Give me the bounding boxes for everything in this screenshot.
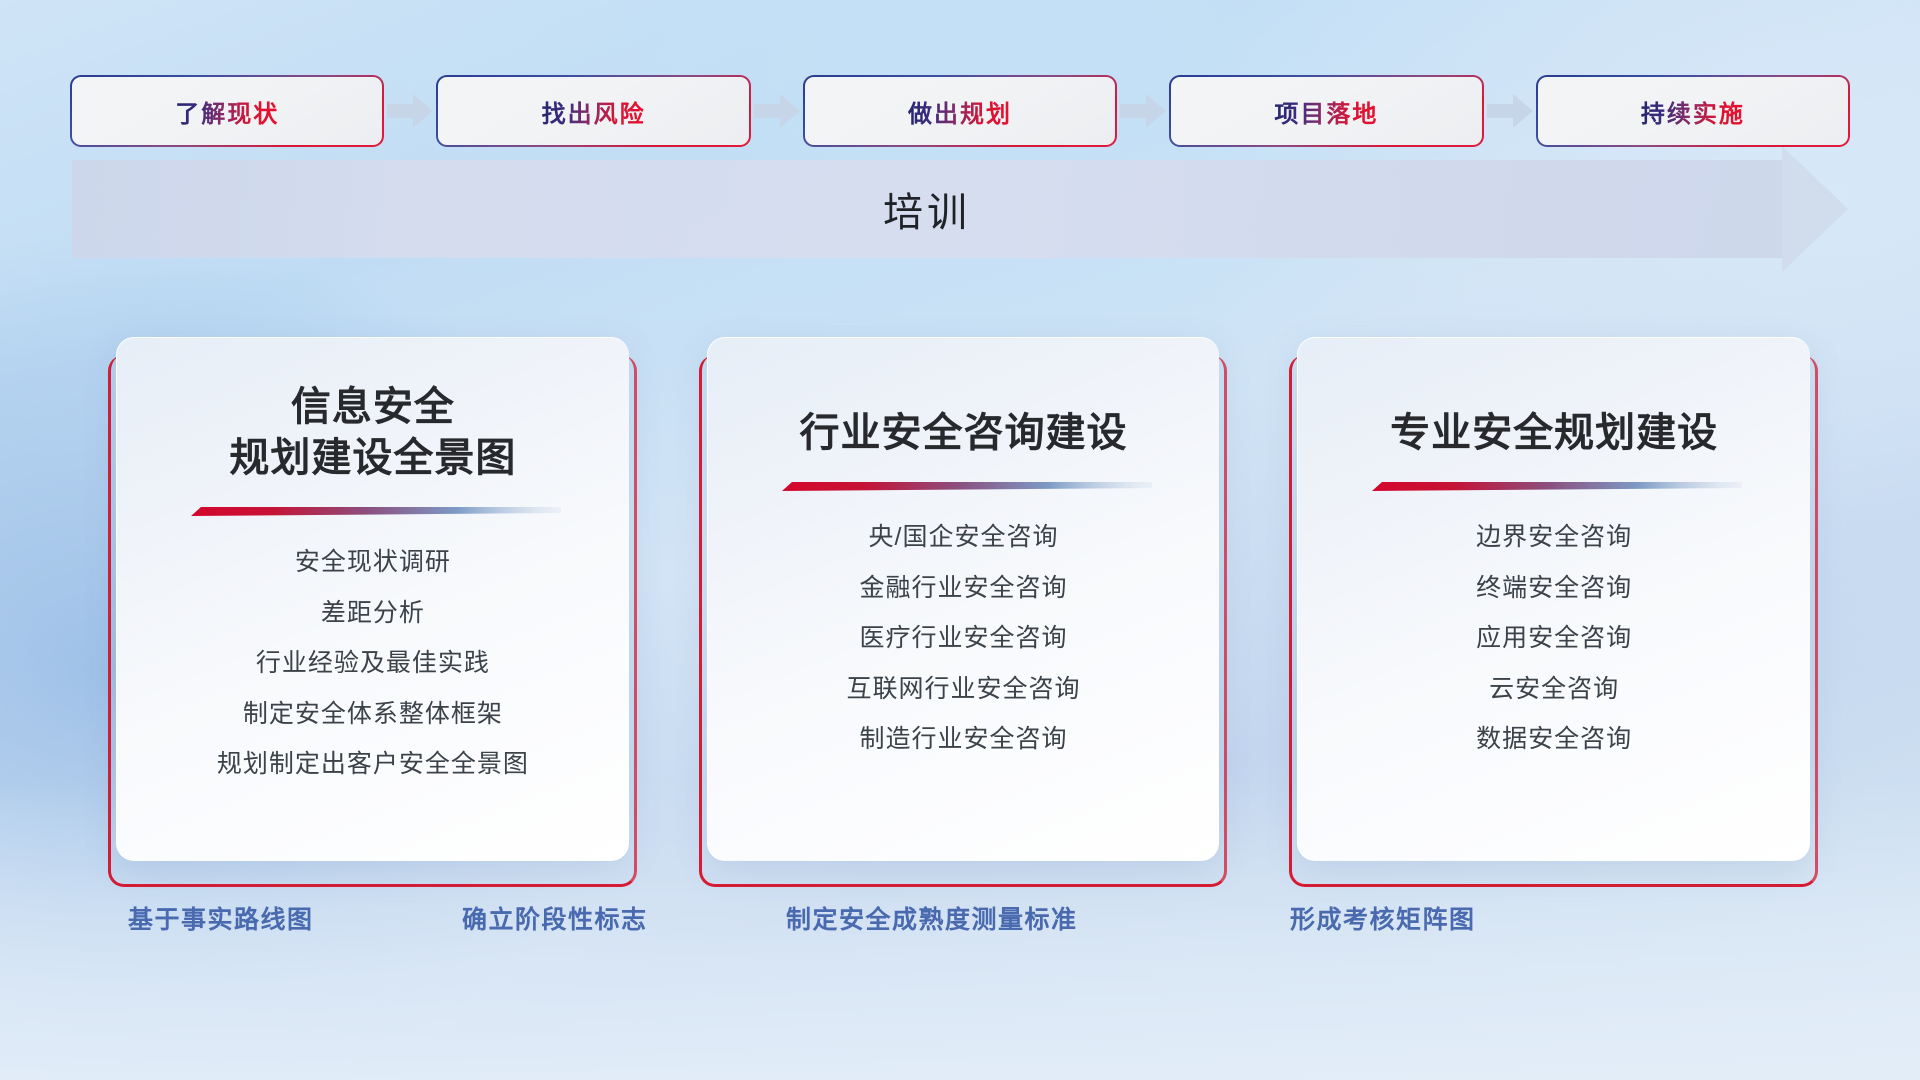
card-2-body[interactable]: 行业安全咨询建设 [707, 337, 1220, 861]
arrow-right-icon [749, 91, 805, 131]
list-item: 制造行业安全咨询 [860, 721, 1068, 759]
step-label-5: 持续实施 [1641, 94, 1745, 129]
step-box-2[interactable]: 找出风险 [438, 77, 748, 145]
list-item: 安全现状调研 [295, 544, 451, 582]
list-item: 终端安全咨询 [1476, 570, 1632, 608]
banner-arrow-tip-icon [1782, 146, 1848, 272]
caption-4: 形成考核矩阵图 [1290, 900, 1476, 936]
arrow-right-icon [1482, 91, 1538, 131]
process-step-row: 了解现状 找出风险 做出规划 项目落地 [72, 77, 1848, 145]
card-3-title: 专业安全规划建设 [1372, 408, 1736, 459]
list-item: 数据安全咨询 [1476, 721, 1632, 759]
card-3-divider [1366, 481, 1742, 493]
card-1-body[interactable]: 信息安全 规划建设全景图 [116, 337, 629, 861]
list-item: 差距分析 [321, 595, 425, 633]
step-box-5[interactable]: 持续实施 [1538, 77, 1848, 145]
training-banner: 培训 [72, 160, 1848, 258]
step-box-3[interactable]: 做出规划 [805, 77, 1115, 145]
list-item: 边界安全咨询 [1476, 519, 1632, 557]
step-label-1: 了解现状 [175, 94, 279, 129]
list-item: 金融行业安全咨询 [860, 570, 1068, 608]
card-1-divider [185, 506, 561, 518]
step-label-3: 做出规划 [908, 94, 1012, 129]
card-2-list: 央/国企安全咨询 金融行业安全咨询 医疗行业安全咨询 互联网行业安全咨询 制造行… [708, 519, 1220, 759]
arrow-right-icon [1115, 91, 1171, 131]
list-item: 互联网行业安全咨询 [847, 671, 1081, 709]
card-2-divider [776, 481, 1152, 493]
slide-canvas: 了解现状 找出风险 做出规划 项目落地 [0, 0, 1920, 1080]
caption-2: 确立阶段性标志 [462, 900, 648, 936]
caption-row: 基于事实路线图 确立阶段性标志 制定安全成熟度测量标准 形成考核矩阵图 [0, 900, 1920, 948]
caption-1: 基于事实路线图 [128, 900, 314, 936]
step-label-4: 项目落地 [1274, 94, 1378, 129]
card-1-title: 信息安全 规划建设全景图 [211, 382, 534, 484]
card-3-body[interactable]: 专业安全规划建设 [1297, 337, 1810, 861]
card-1-list: 安全现状调研 差距分析 行业经验及最佳实践 制定安全体系整体框架 规划制定出客户… [117, 544, 629, 784]
card-2: 行业安全咨询建设 [699, 337, 1228, 877]
list-item: 医疗行业安全咨询 [860, 620, 1068, 658]
list-item: 行业经验及最佳实践 [256, 645, 490, 683]
card-2-title: 行业安全咨询建设 [782, 408, 1146, 459]
card-3: 专业安全规划建设 [1289, 337, 1818, 877]
step-box-1[interactable]: 了解现状 [72, 77, 382, 145]
list-item: 云安全咨询 [1489, 671, 1619, 709]
list-item: 应用安全咨询 [1476, 620, 1632, 658]
card-group: 信息安全 规划建设全景图 [108, 337, 1818, 877]
arrow-right-icon [382, 91, 438, 131]
list-item: 制定安全体系整体框架 [243, 696, 503, 734]
step-box-4[interactable]: 项目落地 [1171, 77, 1481, 145]
step-label-2: 找出风险 [542, 94, 646, 129]
card-1: 信息安全 规划建设全景图 [108, 337, 637, 877]
list-item: 央/国企安全咨询 [869, 519, 1059, 557]
list-item: 规划制定出客户安全全景图 [217, 746, 529, 784]
card-3-list: 边界安全咨询 终端安全咨询 应用安全咨询 云安全咨询 数据安全咨询 [1298, 519, 1810, 759]
banner-title: 培训 [72, 160, 1782, 258]
caption-3: 制定安全成熟度测量标准 [786, 900, 1078, 936]
